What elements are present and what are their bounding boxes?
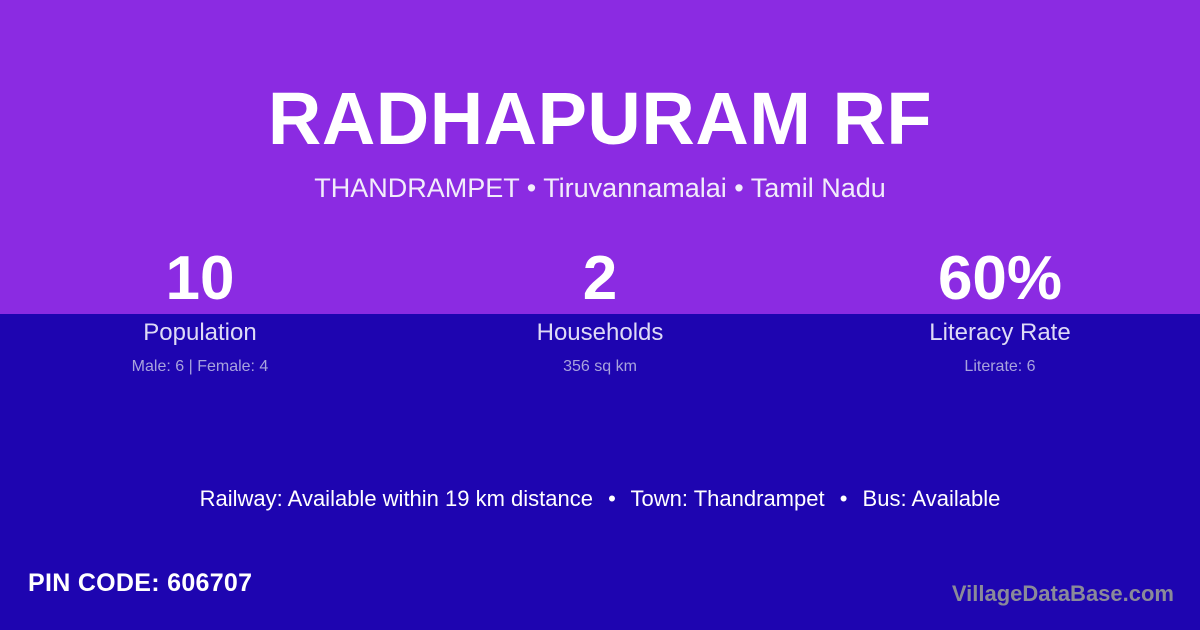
bus-info: Bus: Available — [863, 486, 1001, 511]
railway-info: Railway: Available within 19 km distance — [200, 486, 593, 511]
breadcrumb: THANDRAMPET • Tiruvannamalai • Tamil Nad… — [0, 156, 1200, 204]
town-info: Town: Thandrampet — [631, 486, 825, 511]
stat-subtext: Literate: 6 — [800, 346, 1200, 376]
stat-value: 60% — [800, 248, 1200, 314]
card-footer: PIN CODE: 606707 VillageDataBase.com — [0, 556, 1200, 630]
brand-watermark: VillageDataBase.com — [952, 581, 1174, 607]
pin-code: PIN CODE: 606707 — [28, 568, 252, 598]
stat-label: Population — [0, 314, 400, 346]
bullet-separator-icon: • — [599, 486, 625, 512]
stat-subtext: 356 sq km — [400, 346, 800, 376]
page-title: RADHAPURAM RF — [0, 0, 1200, 156]
card-header: RADHAPURAM RF THANDRAMPET • Tiruvannamal… — [0, 0, 1200, 204]
bullet-separator-icon: • — [831, 486, 857, 512]
stat-value: 10 — [0, 248, 400, 314]
stat-value: 2 — [400, 248, 800, 314]
stat-households: 2 Households 356 sq km — [400, 248, 800, 376]
village-info-card: RADHAPURAM RF THANDRAMPET • Tiruvannamal… — [0, 0, 1200, 630]
amenities-row: Railway: Available within 19 km distance… — [0, 486, 1200, 512]
stat-label: Literacy Rate — [800, 314, 1200, 346]
stat-population: 10 Population Male: 6 | Female: 4 — [0, 248, 400, 376]
stat-literacy-rate: 60% Literacy Rate Literate: 6 — [800, 248, 1200, 376]
stats-row: 10 Population Male: 6 | Female: 4 2 Hous… — [0, 248, 1200, 376]
stat-label: Households — [400, 314, 800, 346]
stat-subtext: Male: 6 | Female: 4 — [0, 346, 400, 376]
